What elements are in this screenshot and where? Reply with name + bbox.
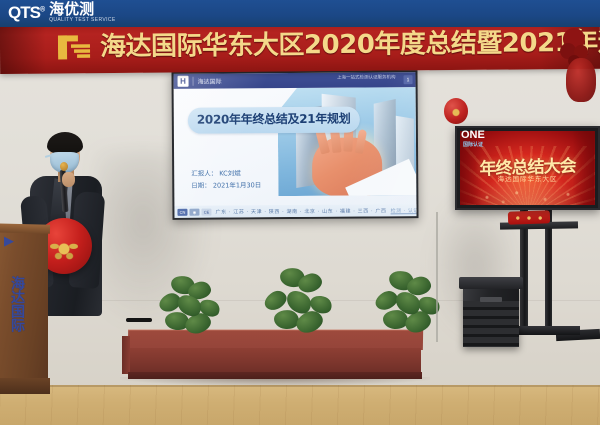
slide-meta-block: 汇报人： KC刘斌 日期： 2021年1月30日 [191, 167, 261, 192]
slide-header-bar: H 海达国际 上海一站式检测认证服务机构 1 [174, 72, 416, 89]
speaker-grille [463, 301, 519, 347]
cert-badge-icon: CE [201, 208, 211, 215]
pa-speaker-cabinet [463, 285, 519, 347]
certification-badges: CN ◉ CE [177, 208, 211, 215]
mic-stand-pole [436, 212, 438, 342]
podium-base [0, 378, 50, 394]
speaker-brand-badge [480, 297, 502, 302]
watermark-brand-en: QUALITY TEST SERVICE [49, 18, 116, 23]
watermark-brand-abbr: QTS® [8, 4, 44, 21]
speaker-cabinet-top [459, 277, 523, 289]
watermark-brand-cn: 海优测 [49, 2, 116, 17]
stage-platform-riser [128, 372, 422, 379]
potted-plant [155, 272, 221, 334]
potted-plant [262, 266, 332, 332]
wooden-floor [0, 385, 600, 425]
cert-badge-icon: CN [177, 208, 187, 215]
presentation-slide: H 海达国际 上海一站式检测认证服务机构 1 2020年年终总结及21年规划 汇… [174, 72, 417, 218]
slide-presenter: 汇报人： KC刘斌 [191, 167, 261, 180]
tv-logo-sub: 国际认证 [463, 141, 483, 148]
podium-logo-icon: ▶ [4, 234, 28, 252]
microphone-head-icon [60, 162, 68, 171]
slide-brand-name: 海达国际 [193, 77, 222, 86]
slide-hero-image [278, 87, 417, 196]
watermark-qts-text: QTS [8, 3, 40, 22]
stage-platform-side [122, 336, 130, 374]
device-indicator-icon [515, 216, 543, 220]
slide-footer-bar: CN ◉ CE 广东 · 江苏 · 天津 · 陕西 · 湖南 · 北京 · 山东… [174, 204, 416, 218]
slide-date: 日期： 2021年1月30日 [191, 180, 261, 193]
watermark-logo: QTS® 海优测 QUALITY TEST SERVICE [8, 2, 116, 23]
person-hair [47, 132, 83, 154]
stage-platform-front [128, 348, 421, 374]
haida-gold-logo [58, 33, 92, 61]
cert-badge-icon: ◉ [189, 208, 199, 215]
podium-top-surface [0, 223, 50, 234]
slide-title: 2020年年终总结及21年规划 [188, 107, 360, 134]
drum-gold-ornament-icon [50, 238, 78, 260]
podium-brand-text: 海达国际 [8, 276, 24, 332]
potted-plant [372, 268, 440, 332]
tv-monitor: 年终总结大会 海达国际华东大区 ONE 国际认证 [455, 126, 600, 210]
banner-side-balloon [566, 58, 596, 102]
banner-fold-left [0, 22, 46, 74]
slide-logo-icon: H [178, 76, 189, 87]
floor-cable [126, 318, 152, 322]
slide-footer-services: 检测 · 认证 · 校准 · 咨询 · 培训 [391, 206, 417, 214]
watermark-bar: QTS® 海优测 QUALITY TEST SERVICE [0, 0, 600, 27]
slide-page-number: 1 [404, 75, 413, 84]
person-hand [62, 172, 75, 187]
photo-scene: 海达国际华东大区2020年度总结暨2021年迎新年会 H 海达国际 上海一站式检… [0, 0, 600, 425]
watermark-registered-icon: ® [40, 6, 44, 13]
slide-footer-regions: 广东 · 江苏 · 天津 · 陕西 · 湖南 · 北京 · 山东 · 福建 · … [215, 207, 386, 215]
tv-logo: ONE [461, 130, 485, 141]
banner-title: 海达国际华东大区2020年度总结暨2021年迎新年会 [100, 21, 600, 63]
tv-subheadline: 海达国际华东大区 [460, 173, 595, 183]
slide-header-note: 上海一站式检测认证服务机构 [337, 75, 396, 81]
watermark-cn-block: 海优测 QUALITY TEST SERVICE [49, 2, 116, 23]
balloon-ornament-icon [451, 108, 461, 117]
projection-screen: H 海达国际 上海一站式检测认证服务机构 1 2020年年终总结及21年规划 汇… [171, 70, 418, 220]
